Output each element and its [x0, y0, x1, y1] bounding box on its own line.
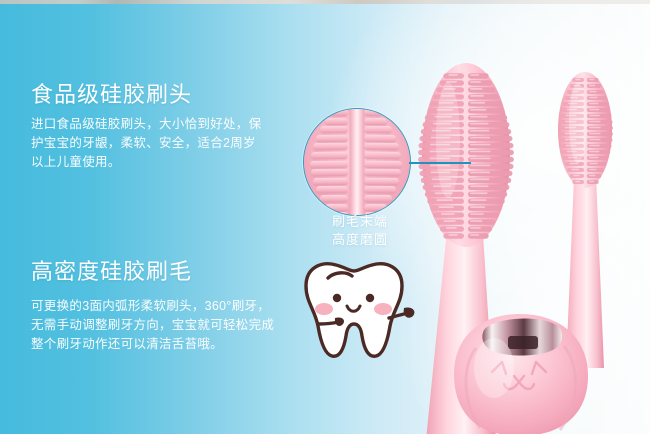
magnified-bristle — [316, 186, 348, 193]
magnified-bristle — [364, 178, 399, 185]
magnified-bristle — [330, 109, 348, 116]
magnified-bristle — [364, 135, 396, 142]
magnified-bristle — [320, 126, 348, 133]
section-heading: 食品级硅胶刷头 — [31, 82, 263, 108]
tooth-mascot — [292, 256, 417, 371]
bristle-spine — [350, 108, 365, 216]
section-body: 可更换的3面内弧形柔软刷头，360°刷牙，无需手动调整刷牙方向，宝宝就可轻松完成… — [31, 297, 279, 354]
callout-caption-line2: 高度磨圆 — [310, 231, 410, 249]
magnified-bristle — [316, 135, 348, 142]
magnified-bristle — [364, 109, 382, 116]
magnified-bristles — [303, 108, 411, 216]
magnified-bristle — [320, 195, 348, 202]
product-banner: 刷毛末端 高度磨圆 食品级硅胶刷头 进口食品级硅胶刷头，大小恰到好处，保护宝宝的… — [0, 0, 650, 434]
magnified-bristle — [364, 204, 387, 211]
magnified-bristle — [311, 169, 348, 176]
magnified-bristle — [364, 152, 401, 159]
magnified-bristle — [311, 152, 348, 159]
magnified-bristle — [325, 118, 348, 125]
magnifier-circle — [303, 108, 411, 216]
magnified-bristle — [364, 186, 396, 193]
section-heading: 高密度硅胶刷毛 — [31, 259, 279, 285]
magnified-bristle — [364, 143, 399, 150]
section-food-grade-head: 食品级硅胶刷头 进口食品级硅胶刷头，大小恰到好处，保护宝宝的牙龈，柔软、安全，适… — [31, 82, 263, 172]
handle-base-unit — [432, 296, 612, 434]
magnified-bristle — [364, 169, 401, 176]
magnified-bristle — [364, 195, 392, 202]
callout-connector-line — [409, 162, 471, 164]
magnified-bristle — [313, 178, 348, 185]
section-body: 进口食品级硅胶刷头，大小恰到好处，保护宝宝的牙龈，柔软、安全，适合2周岁以上儿童… — [31, 115, 263, 172]
section-high-density-bristles: 高密度硅胶刷毛 可更换的3面内弧形柔软刷头，360°刷牙，无需手动调整刷牙方向，… — [31, 259, 279, 354]
magnified-bristle — [364, 126, 392, 133]
top-edge-strip — [0, 0, 650, 4]
callout-caption-line1: 刷毛末端 — [310, 213, 410, 231]
callout-caption: 刷毛末端 高度磨圆 — [310, 213, 410, 249]
magnified-bristle — [310, 161, 348, 168]
magnified-bristle — [364, 161, 402, 168]
magnified-bristle — [325, 204, 348, 211]
magnified-bristle — [364, 118, 387, 125]
magnified-bristle — [313, 143, 348, 150]
